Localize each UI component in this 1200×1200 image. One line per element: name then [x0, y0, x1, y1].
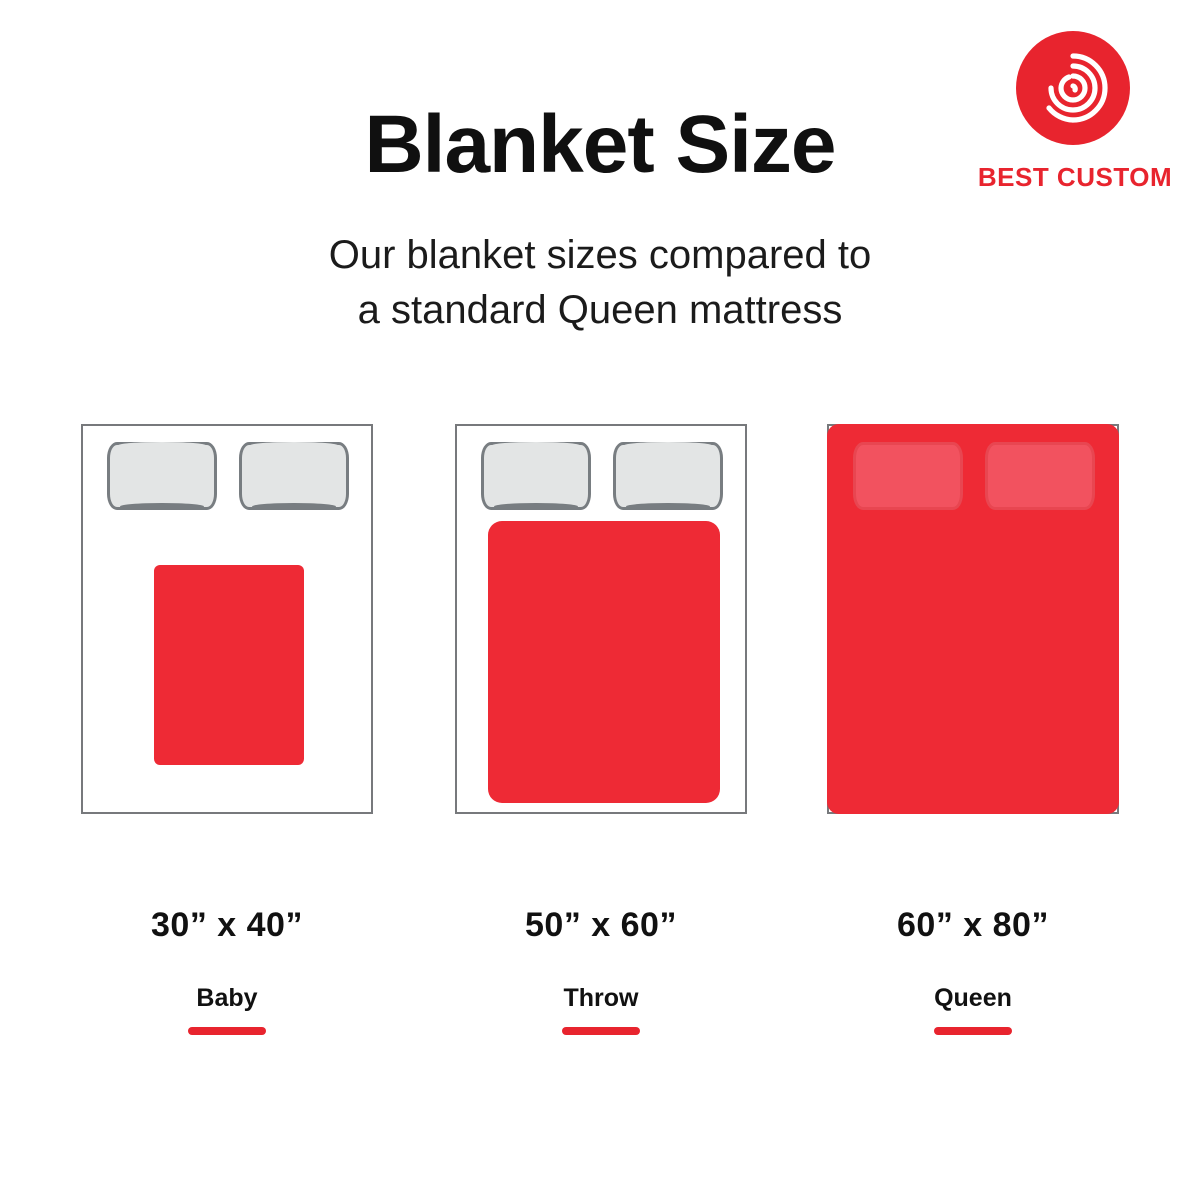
pillow-right [239, 442, 349, 510]
accent-rule [934, 1027, 1012, 1035]
blanket-name: Queen [823, 986, 1123, 1011]
blanket-dimensions: 30” x 40” [77, 908, 377, 942]
bed-diagram-throw [455, 424, 747, 814]
subtitle-line-1: Our blanket sizes compared to [0, 228, 1200, 283]
caption-throw: 50” x 60” Throw [451, 908, 751, 1035]
blanket-baby [154, 565, 304, 765]
caption-baby: 30” x 40” Baby [77, 908, 377, 1035]
pillow-left [853, 442, 963, 510]
blanket-dimensions: 60” x 80” [823, 908, 1123, 942]
pillow-left [481, 442, 591, 510]
infographic-canvas: BEST CUSTOM Blanket Size Our blanket siz… [0, 0, 1200, 1200]
page-title: Blanket Size [0, 104, 1200, 186]
pillow-right [985, 442, 1095, 510]
bed-diagram-baby [81, 424, 373, 814]
subtitle-line-2: a standard Queen mattress [0, 283, 1200, 338]
blanket-name: Baby [77, 986, 377, 1011]
accent-rule [562, 1027, 640, 1035]
accent-rule [188, 1027, 266, 1035]
blanket-throw [488, 521, 720, 803]
blanket-dimensions: 50” x 60” [451, 908, 751, 942]
caption-queen: 60” x 80” Queen [823, 908, 1123, 1035]
blanket-name: Throw [451, 986, 751, 1011]
page-subtitle: Our blanket sizes compared to a standard… [0, 228, 1200, 338]
pillow-left [107, 442, 217, 510]
pillow-right [613, 442, 723, 510]
bed-diagram-queen [827, 424, 1119, 814]
